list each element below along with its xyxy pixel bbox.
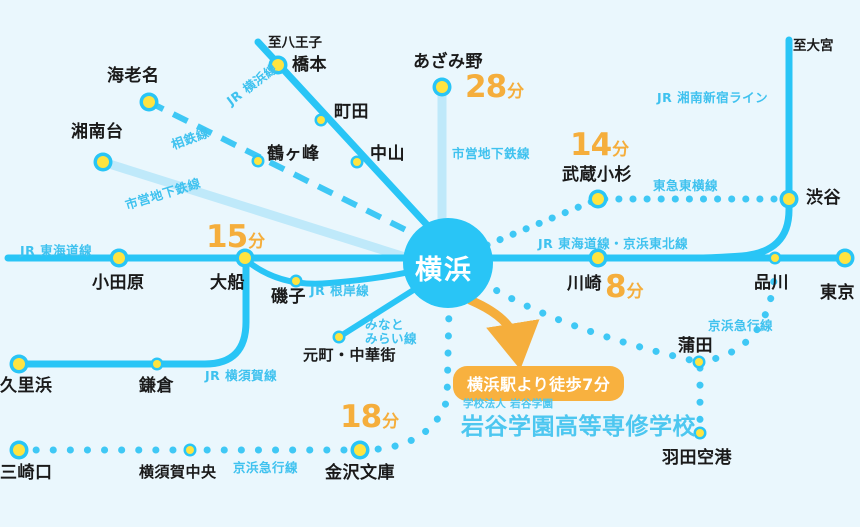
line-jr-negishi (246, 260, 425, 284)
hub-label-yokohama: 横浜 (415, 248, 473, 287)
station-dot-core-isogo (292, 277, 300, 285)
station-label-kamakura: 鎌倉 (139, 378, 174, 395)
terminus-label-to-omiya: 至大宮 (793, 40, 834, 54)
line-label-jr-tokaido-keihin: JR 東海道線・京浜東北線 (538, 238, 688, 251)
station-dot-core-shibuya (783, 193, 795, 205)
station-dot-core-odawara (113, 252, 125, 264)
station-dot-core-kamakura (153, 360, 161, 368)
minute-unit: 分 (507, 82, 523, 102)
line-label-jr-tokaido-left: JR 東海道線 (20, 245, 92, 258)
terminus-label-to-hachioji: 至八王子 (268, 37, 322, 51)
line-label-keikyu-right: 京浜急行線 (708, 320, 773, 333)
station-label-motomachi: 元町・中華街 (303, 348, 396, 363)
curved-arrow-to-school-icon (470, 300, 516, 343)
line-jr-shonan-shinjuku (700, 40, 789, 258)
minute-value: 28 (465, 69, 506, 105)
minute-value: 14 (570, 127, 611, 163)
station-dot-core-kamata (695, 358, 703, 366)
station-label-misakiguchi: 三崎口 (0, 465, 53, 482)
station-label-haneda: 羽田空港 (662, 450, 732, 467)
line-label-keikyu-left: 京浜急行線 (233, 462, 298, 475)
station-dot-core-haneda (696, 429, 704, 437)
line-subway-left (103, 162, 440, 268)
station-label-yokosuka-chuo: 横須賀中央 (139, 465, 217, 480)
minute-unit: 分 (627, 282, 643, 302)
station-label-kawasaki: 川崎 (567, 276, 602, 293)
station-label-shibuya: 渋谷 (806, 190, 841, 207)
station-dot-core-machida (317, 116, 325, 124)
station-label-odawara: 小田原 (92, 275, 145, 292)
station-label-kanazawa-bunko: 金沢文庫 (325, 465, 395, 482)
station-label-hashimoto: 橋本 (292, 57, 327, 74)
minute-unit: 分 (382, 412, 398, 432)
minute-value: 8 (605, 269, 626, 305)
station-dot-core-ebina (143, 96, 155, 108)
station-label-shonandai: 湘南台 (71, 124, 124, 141)
station-label-kamata: 蒲田 (678, 338, 713, 355)
station-label-isogo: 磯子 (271, 289, 306, 306)
line-label-tokyu-toyoko: 東急東横線 (653, 180, 718, 193)
line-label-jr-yokosuka: JR 横須賀線 (205, 370, 277, 383)
line-label-subway-center: 市営地下鉄線 (452, 148, 530, 161)
minute-label-min-kanazawa: 18分 (340, 402, 398, 433)
route-map: 横浜 JR 横浜線相鉄線市営地下鉄線JR 東海道線JR 根岸線みなとみらい線JR… (0, 0, 860, 527)
station-label-ofuna: 大船 (210, 275, 245, 292)
station-dot-core-shonandai (97, 156, 109, 168)
station-label-shinagawa: 品川 (754, 275, 789, 292)
station-label-tsurugamine: 鶴ヶ峰 (267, 146, 320, 163)
station-dot-core-azamino (436, 81, 448, 93)
line-label-minatomirai: みなとみらい線 (365, 318, 417, 347)
minute-label-min-ofuna: 15分 (206, 222, 264, 253)
station-dot-core-misakiguchi (13, 444, 25, 456)
station-dot-core-musashi-kosugi (592, 193, 604, 205)
minute-value: 15 (206, 219, 247, 255)
station-label-kurihama: 久里浜 (0, 378, 53, 395)
station-label-musashi-kosugi: 武蔵小杉 (562, 167, 632, 184)
station-label-machida: 町田 (334, 104, 369, 121)
station-dot-core-kurihama (13, 358, 25, 370)
minute-label-min-azamino: 28分 (465, 72, 523, 103)
minute-value: 18 (340, 399, 381, 435)
station-dot-core-nakayama (353, 158, 361, 166)
school-name-label: 岩谷学園高等専修学校 (461, 407, 696, 441)
minute-label-min-kawasaki: 8分 (605, 272, 643, 303)
station-dot-core-motomachi (335, 333, 343, 341)
station-dot-core-kawasaki (592, 252, 604, 264)
minute-unit: 分 (612, 140, 628, 160)
station-dot-core-kanazawa-bunko (354, 444, 366, 456)
station-dot-core-tsurugamine (254, 157, 262, 165)
station-label-tokyo: 東京 (820, 285, 855, 302)
minute-unit: 分 (248, 232, 264, 252)
station-dot-core-shinagawa (771, 254, 779, 262)
station-dot-core-tokyo (839, 252, 851, 264)
station-dot-core-yokosuka-chuo (186, 446, 194, 454)
minute-label-min-kosugi: 14分 (570, 130, 628, 161)
line-label-jr-shonan-shinjuku: JR 湘南新宿ライン (657, 92, 768, 105)
station-label-ebina: 海老名 (107, 68, 160, 85)
line-label-jr-negishi: JR 根岸線 (310, 285, 369, 298)
station-label-nakayama: 中山 (370, 146, 405, 163)
